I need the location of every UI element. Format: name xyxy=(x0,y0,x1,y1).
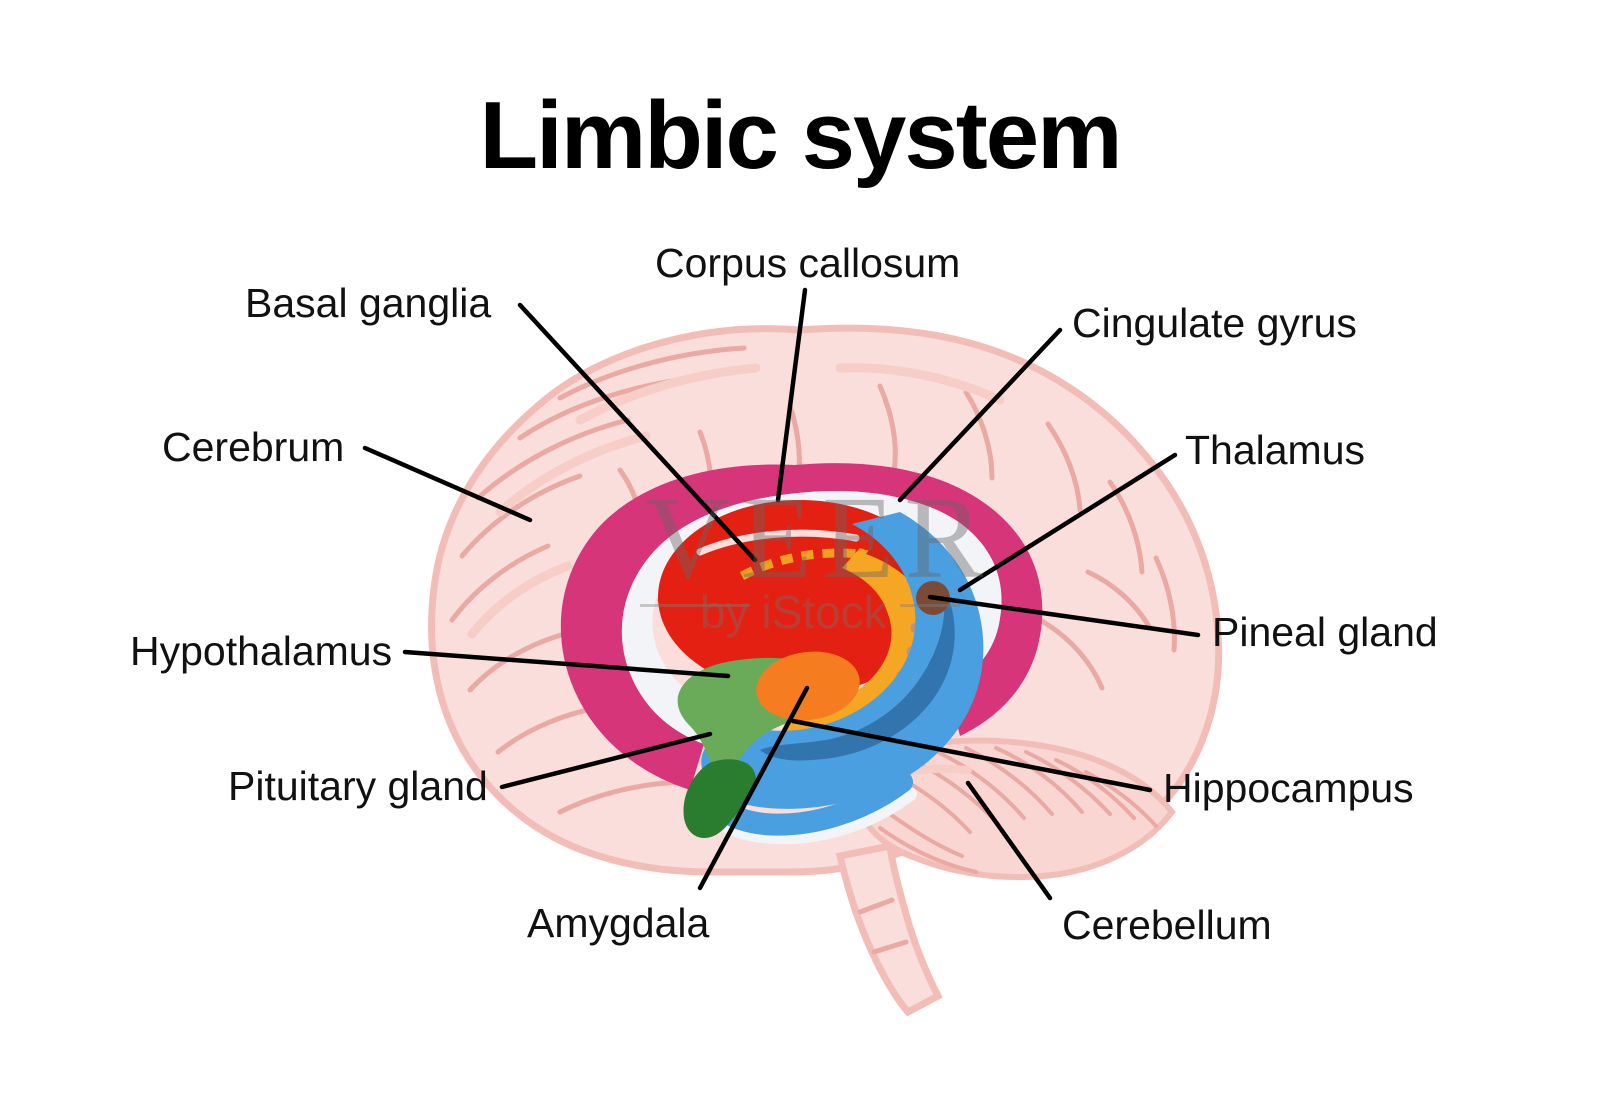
limbic-system-diagram: Limbic system xyxy=(0,0,1600,1120)
label-cerebellum: Cerebellum xyxy=(1062,905,1272,946)
label-amygdala: Amygdala xyxy=(527,903,709,944)
watermark-rule-right xyxy=(900,604,960,607)
label-cerebrum: Cerebrum xyxy=(162,427,344,468)
label-basal-ganglia: Basal ganglia xyxy=(245,283,491,324)
label-hypothalamus: Hypothalamus xyxy=(130,631,392,672)
label-thalamus: Thalamus xyxy=(1185,430,1365,471)
label-cingulate-gyrus: Cingulate gyrus xyxy=(1072,303,1357,344)
label-pituitary-gland: Pituitary gland xyxy=(228,766,488,807)
label-hippocampus: Hippocampus xyxy=(1163,768,1414,809)
label-corpus-callosum: Corpus callosum xyxy=(655,243,960,284)
watermark-istock: by iStock xyxy=(700,585,887,639)
label-pineal-gland: Pineal gland xyxy=(1212,612,1438,653)
